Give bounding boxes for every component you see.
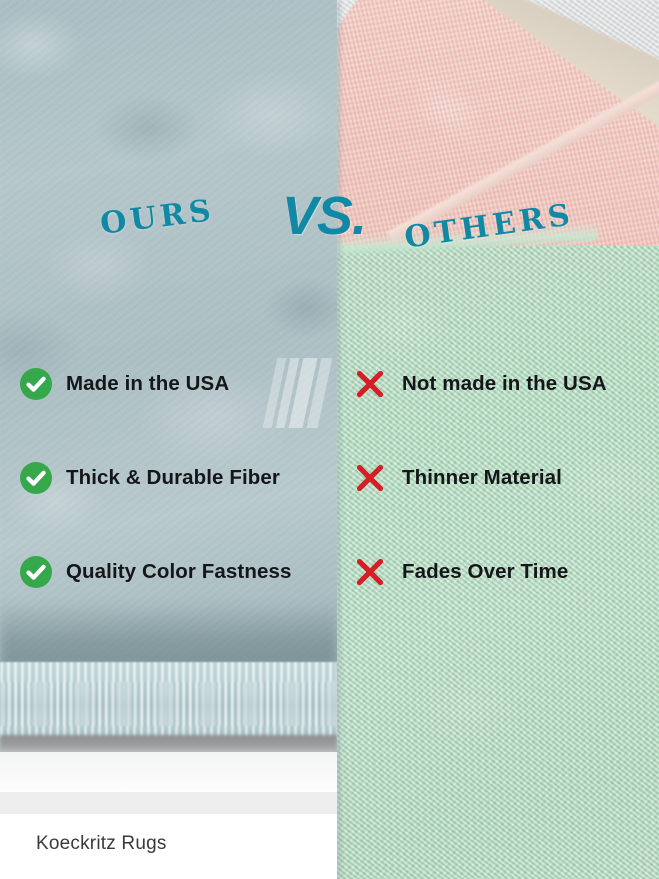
brand-caption: Koeckritz Rugs <box>36 833 167 855</box>
comparison-infographic: OURS VS. OTHERS Made in the USA Thick & … <box>0 0 659 879</box>
feature-label: Thinner Material <box>402 466 562 490</box>
feature-label: Not made in the USA <box>402 372 607 396</box>
red-x-icon <box>352 554 388 590</box>
feature-row: Thick & Durable Fiber <box>18 454 328 501</box>
feature-label: Fades Over Time <box>402 560 568 584</box>
feature-row: Made in the USA <box>18 360 328 407</box>
feature-row: Quality Color Fastness <box>18 548 328 595</box>
carpet-binding-ribs <box>0 682 337 726</box>
feature-label: Made in the USA <box>66 372 229 396</box>
panel-divider-seam <box>337 0 344 879</box>
feature-row: Thinner Material <box>352 454 652 501</box>
ours-feature-list: Made in the USA Thick & Durable Fiber Qu… <box>18 360 328 595</box>
floor-surface <box>0 752 337 790</box>
green-check-icon <box>18 366 54 402</box>
feature-label: Quality Color Fastness <box>66 560 291 584</box>
left-carpet-shading <box>0 600 337 670</box>
feature-label: Thick & Durable Fiber <box>66 466 280 490</box>
others-feature-list: Not made in the USA Thinner Material Fad… <box>352 360 652 595</box>
heading-vs: VS. <box>282 185 366 247</box>
red-x-icon <box>352 366 388 402</box>
feature-row: Fades Over Time <box>352 548 652 595</box>
green-check-icon <box>18 460 54 496</box>
footer-gray-band <box>0 792 337 814</box>
red-x-icon <box>352 460 388 496</box>
green-check-icon <box>18 554 54 590</box>
feature-row: Not made in the USA <box>352 360 652 407</box>
